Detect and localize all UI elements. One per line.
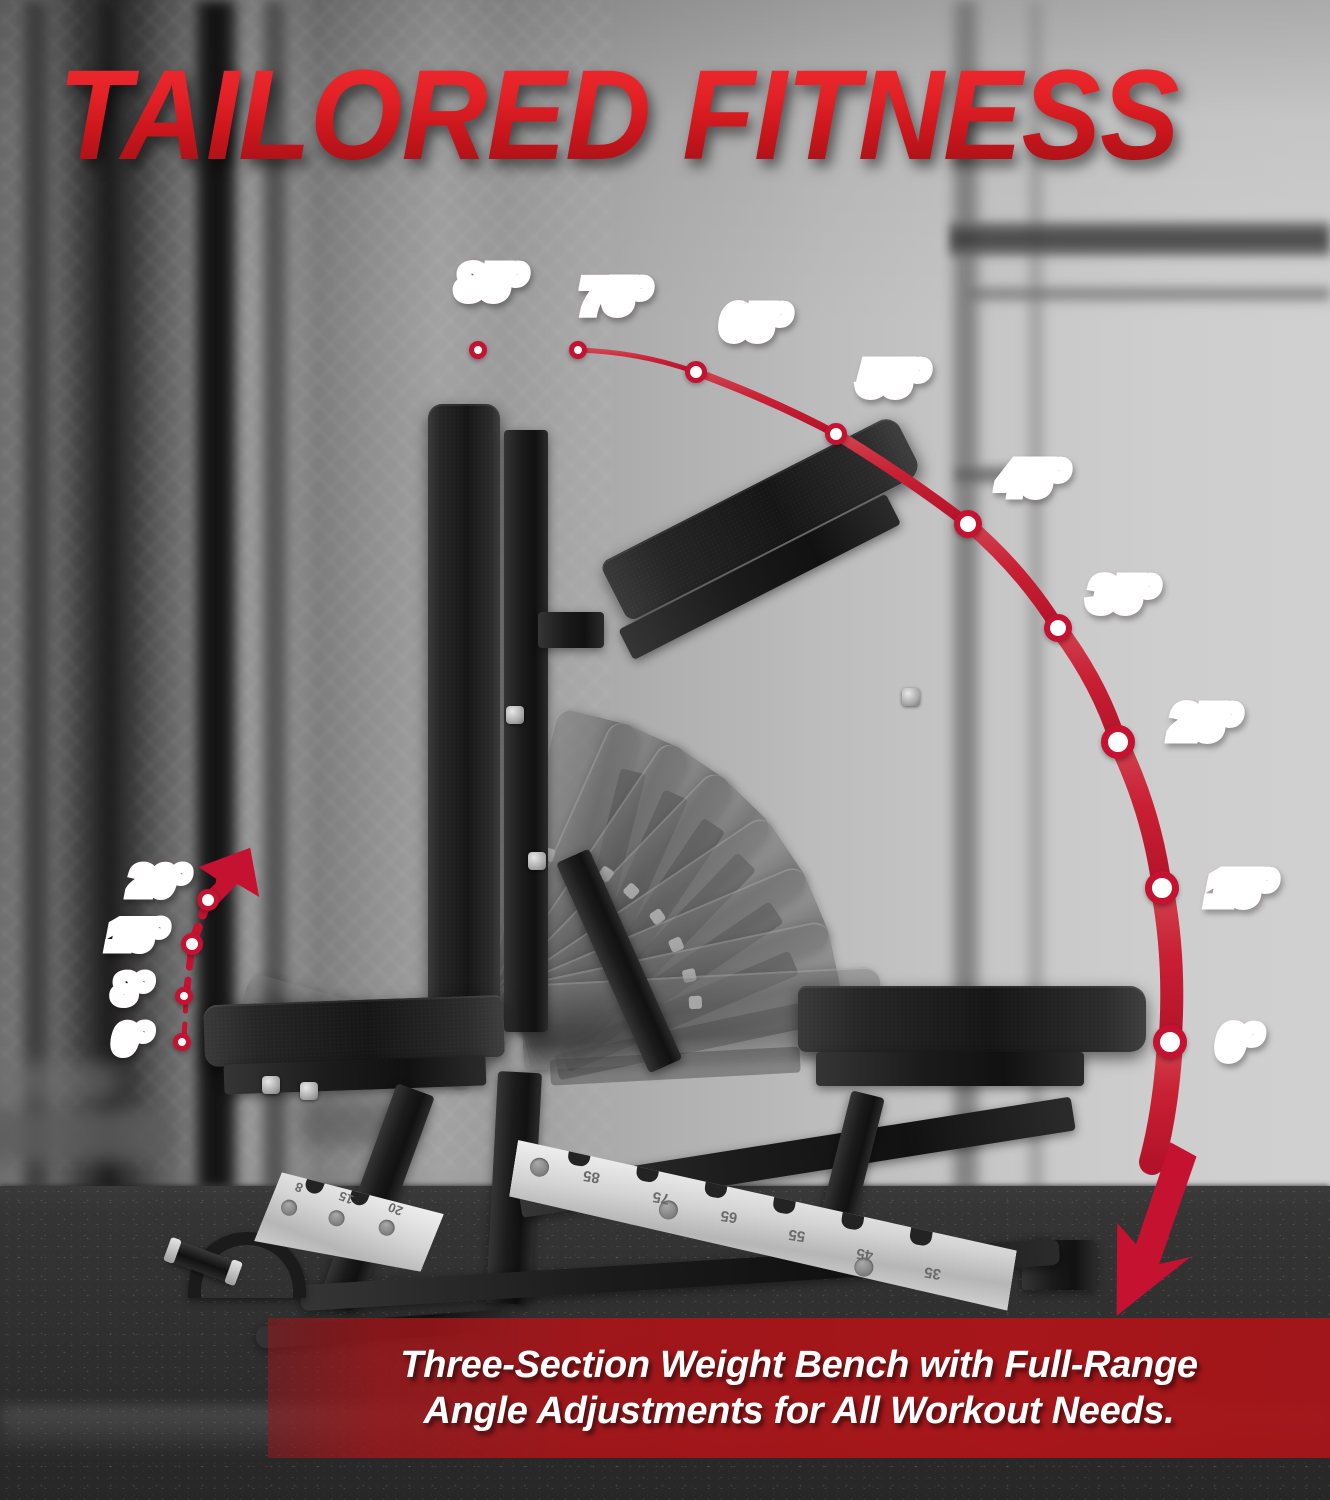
backrest-frame-rail [504,430,548,1032]
ladder-number: 20 [386,1200,405,1219]
angle-label-65: 65º [722,295,787,349]
seat-label-8: 8º [114,968,149,1013]
seat-label-0-text: 0º [114,1018,149,1062]
angle-label-15: 15º [1208,861,1273,915]
angle-label-0: 0º [1218,1015,1258,1069]
angle-dot-65[interactable] [685,361,707,383]
angle-label-25-text: 25º [1172,696,1237,748]
seat-front-bolt [300,1082,318,1100]
seat-label-0: 0º [114,1018,149,1063]
ladder-number: 45 [855,1244,874,1263]
angle-label-45: 45º [1000,451,1065,505]
ladder-number: 35 [923,1263,942,1282]
seat-label-20: 20º [130,860,186,905]
angle-label-35: 35º [1090,567,1155,621]
caption-line-2: Angle Adjustments for All Workout Needs. [424,1388,1175,1434]
caption-banner: Three-Section Weight Bench with Full-Ran… [268,1318,1330,1458]
angle-label-75-text: 75º [582,270,647,322]
seat-front-bolt [262,1076,280,1094]
angle-dot-0[interactable] [1153,1025,1187,1059]
ladder-number: 85 [582,1167,601,1186]
angle-dot-35[interactable] [1044,614,1072,642]
angle-label-15-text: 15º [1208,862,1273,914]
backrest-crossbar [538,612,604,648]
angle-label-35-text: 35º [1090,568,1155,620]
backrest-pivot-bolt [506,706,524,724]
backrest-bolt [528,852,546,870]
angle-dot-75[interactable] [569,341,587,359]
seat-label-20-text: 20º [130,860,186,904]
product-infographic: TAILORED FITNESS [0,0,1330,1500]
angle-dot-85[interactable] [469,341,487,359]
ladder-number: 75 [652,1188,671,1207]
ladder-number: 8 [293,1179,305,1196]
angle-dot-55[interactable] [825,423,847,445]
backrest-reclined-bolt [902,688,920,706]
angle-label-85-text: 85º [458,256,523,308]
angle-dot-25[interactable] [1101,725,1135,759]
angle-label-45-text: 45º [1000,452,1065,504]
ladder-number: 65 [719,1207,738,1226]
seat-dot-0[interactable] [173,1033,191,1051]
seat-label-15-text: 15º [108,914,164,958]
caption-line-1: Three-Section Weight Bench with Full-Ran… [400,1342,1197,1388]
seat-dot-20[interactable] [197,889,219,911]
ladder-number: 55 [787,1226,806,1245]
seat-pad-flat [798,986,1146,1052]
seat-dot-15[interactable] [181,933,203,955]
angle-label-75: 75º [582,269,647,323]
seat-label-8-text: 8º [114,968,149,1012]
angle-label-0-text: 0º [1218,1016,1258,1068]
seat-frame-flat [816,1052,1084,1086]
angle-dot-15[interactable] [1145,871,1179,905]
backrest-pad [428,404,500,1044]
angle-label-55-text: 55º [860,352,925,404]
angle-label-65-text: 65º [722,296,787,348]
angle-dot-45[interactable] [954,510,982,538]
angle-label-25: 25º [1172,695,1237,749]
seat-dot-8[interactable] [175,987,193,1005]
angle-label-55: 55º [860,351,925,405]
angle-label-85: 85º [458,255,523,309]
seat-label-15: 15º [108,914,164,959]
